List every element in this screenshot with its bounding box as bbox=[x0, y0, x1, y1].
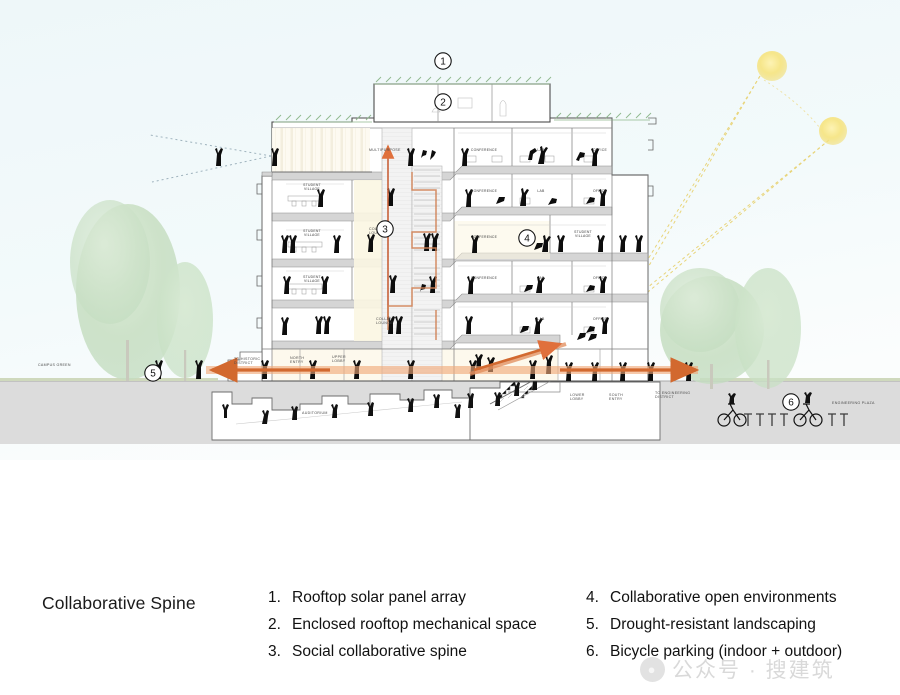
watermark-badge-icon: ● bbox=[640, 657, 665, 682]
site-label: NORTHENTRY bbox=[290, 356, 304, 364]
svg-text:6: 6 bbox=[788, 398, 794, 409]
legend-number: 3. bbox=[268, 642, 292, 663]
site-label: AUDITORIUM bbox=[302, 411, 328, 415]
site-label: SOUTHENTRY bbox=[609, 393, 623, 401]
room-label: STUDENTVILLAGE bbox=[303, 183, 321, 191]
building-section-drawing: STUDENTVILLAGESTUDENTVILLAGESTUDENTVILLA… bbox=[0, 0, 900, 460]
room-label: CONFERENCE bbox=[471, 148, 498, 152]
legend-item: 1. Rooftop solar panel array bbox=[268, 588, 568, 609]
room-label: LAB bbox=[537, 189, 545, 193]
room-label: LAB bbox=[537, 317, 545, 321]
svg-text:5: 5 bbox=[150, 369, 156, 380]
room-label: OFFICE bbox=[593, 317, 607, 321]
room-label: OFFICE bbox=[593, 276, 607, 280]
legend-number: 6. bbox=[586, 642, 610, 663]
legend-number: 1. bbox=[268, 588, 292, 609]
watermark-text: 公众号 · 搜建筑 bbox=[672, 654, 835, 684]
room-label: CONFERENCE bbox=[471, 235, 498, 239]
room-label: STUDENTVILLAGE bbox=[303, 275, 321, 283]
legend-label: Enclosed rooftop mechanical space bbox=[292, 615, 568, 636]
watermark: ● 公众号 · 搜建筑 bbox=[640, 654, 835, 684]
legend-label: Collaborative open environments bbox=[610, 588, 896, 609]
room-label: OFFICE bbox=[593, 148, 607, 152]
svg-text:2: 2 bbox=[440, 98, 446, 109]
room-label: LAB bbox=[537, 148, 545, 152]
legend-item: 2. Enclosed rooftop mechanical space bbox=[268, 615, 568, 636]
callout-marker-5: 5 bbox=[145, 365, 161, 381]
site-label: LOWERLOBBY bbox=[570, 393, 585, 401]
section-diagram-page: STUDENTVILLAGESTUDENTVILLAGESTUDENTVILLA… bbox=[0, 0, 900, 695]
svg-text:4: 4 bbox=[524, 234, 530, 245]
callout-marker-4: 4 bbox=[519, 230, 535, 246]
legend-item: 4. Collaborative open environments bbox=[586, 588, 896, 609]
svg-text:3: 3 bbox=[382, 225, 388, 236]
callout-marker-1: 1 bbox=[435, 53, 451, 69]
legend-number: 5. bbox=[586, 615, 610, 636]
site-label: ENGINEERING PLAZA bbox=[832, 401, 875, 405]
site-label: UPPERLOBBY bbox=[332, 355, 346, 363]
room-label: STUDENTVILLAGE bbox=[303, 229, 321, 237]
legend-item: 3. Social collaborative spine bbox=[268, 642, 568, 663]
sun-icon-high bbox=[757, 51, 787, 81]
room-label: CONFERENCE bbox=[471, 276, 498, 280]
room-label: OFFICE bbox=[593, 189, 607, 193]
legend-label: Rooftop solar panel array bbox=[292, 588, 568, 609]
callout-marker-2: 2 bbox=[435, 94, 451, 110]
legend-label: Drought-resistant landscaping bbox=[610, 615, 896, 636]
sun-icon-low bbox=[819, 117, 847, 145]
svg-text:1: 1 bbox=[440, 57, 446, 68]
callout-marker-6: 6 bbox=[783, 394, 799, 410]
legend-column-left: 1. Rooftop solar panel array 2. Enclosed… bbox=[268, 588, 568, 669]
legend-item: 5. Drought-resistant landscaping bbox=[586, 615, 896, 636]
legend-title: Collaborative Spine bbox=[42, 593, 196, 614]
site-label: COLLABLOUNGE bbox=[376, 317, 393, 325]
room-label: LAB bbox=[537, 276, 545, 280]
legend-number: 2. bbox=[268, 615, 292, 636]
room-label: CONFERENCE bbox=[471, 189, 498, 193]
callout-marker-3: 3 bbox=[377, 221, 393, 237]
site-label: CAMPUS GREEN bbox=[38, 363, 71, 367]
legend-number: 4. bbox=[586, 588, 610, 609]
site-label: MULTIPURPOSE bbox=[369, 148, 401, 152]
room-label: STUDENTVILLAGE bbox=[574, 230, 592, 238]
legend-panel: Collaborative Spine 1. Rooftop solar pan… bbox=[0, 460, 900, 695]
legend-label: Social collaborative spine bbox=[292, 642, 568, 663]
collaborative-spine-shaft bbox=[382, 128, 412, 381]
